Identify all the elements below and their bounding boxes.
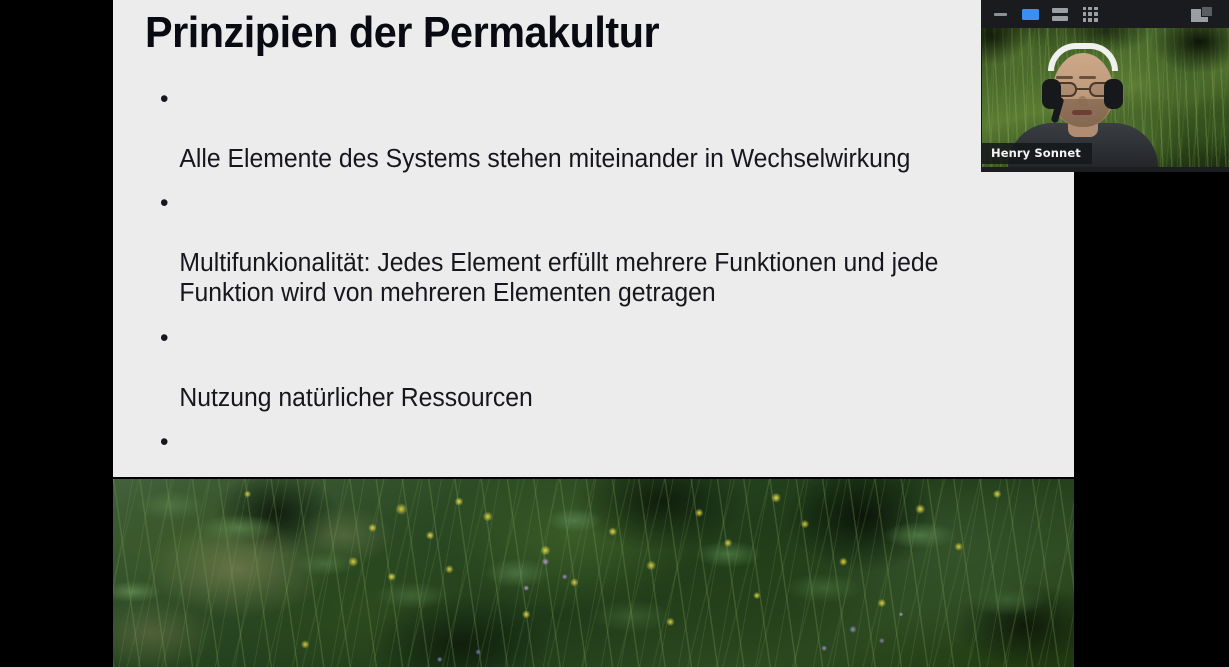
video-tile-henry-sonnet[interactable]: Henry Sonnet (982, 28, 1229, 167)
bullet-marker-icon: • (160, 84, 169, 114)
screen-root: Prinzipien der Permakultur • Alle Elemen… (0, 0, 1229, 667)
rows-view-icon (1052, 8, 1068, 21)
slide-bullet-list: • Alle Elemente des Systems stehen mitei… (160, 84, 1074, 477)
participant-mouth (1072, 110, 1092, 115)
grid-view-icon (1083, 7, 1098, 22)
photo-vignette (113, 479, 1074, 667)
rows-view-button[interactable] (1049, 4, 1071, 24)
minimize-button[interactable] (989, 4, 1011, 24)
bullet-marker-icon: • (160, 427, 169, 457)
bullet-text: Multifunkionalität: Jedes Element erfüll… (179, 249, 938, 307)
participant-eyebrow-right (1079, 76, 1096, 79)
garden-photo (113, 479, 1074, 667)
minimize-icon (994, 13, 1007, 16)
video-toolbar (981, 0, 1229, 28)
grid-view-button[interactable] (1079, 4, 1101, 24)
video-conference-panel: Henry Sonnet (981, 0, 1229, 172)
video-panel-footer (981, 167, 1229, 172)
headset-earcup-right (1104, 79, 1123, 109)
speaker-view-icon (1022, 9, 1039, 20)
bullet-item: • Alle Elemente des Systems stehen mitei… (160, 84, 1074, 174)
picture-in-picture-button[interactable] (1191, 4, 1213, 24)
bullet-text: Nutzung natürlicher Ressourcen (179, 384, 532, 412)
picture-in-picture-icon (1191, 6, 1213, 22)
slide-title: Prinzipien der Permakultur (145, 8, 659, 58)
bullet-item: • Nutzung natürlicher Ressourcen (160, 323, 1074, 413)
bullet-item: • Multifunkionalität: Jedes Element erfü… (160, 188, 1074, 308)
participant-name-label: Henry Sonnet (982, 143, 1092, 164)
bullet-marker-icon: • (160, 188, 169, 218)
speaker-view-button[interactable] (1019, 4, 1041, 24)
bullet-text: Alle Elemente des Systems stehen miteina… (179, 145, 910, 173)
bullet-marker-icon: • (160, 323, 169, 353)
presentation-slide: Prinzipien der Permakultur • Alle Elemen… (113, 0, 1074, 477)
participant-eyebrow-left (1056, 76, 1073, 79)
bullet-item: • Intensiv genutzte Systeme auf kleinem … (160, 427, 1074, 477)
participant-nose (1078, 96, 1087, 107)
